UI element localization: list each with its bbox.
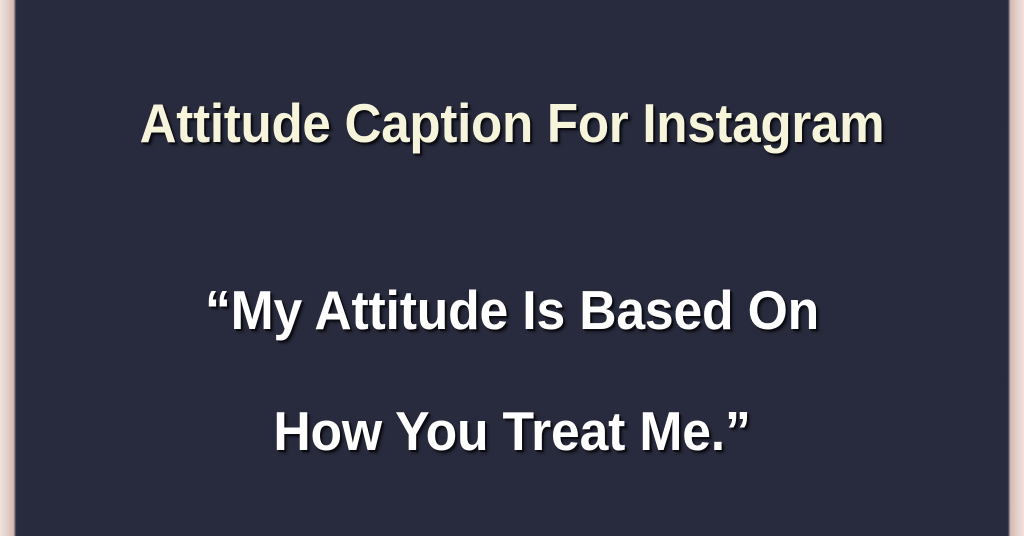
quote-line-2: How You Treat Me.” <box>31 404 994 459</box>
quote-line-1: “My Attitude Is Based On <box>31 283 994 338</box>
quote-graphic-canvas: Attitude Caption For Instagram “My Attit… <box>0 0 1024 536</box>
content-area: Attitude Caption For Instagram “My Attit… <box>0 0 1024 536</box>
page-title: Attitude Caption For Instagram <box>36 96 988 151</box>
quote-block: “My Attitude Is Based On How You Treat M… <box>0 283 1024 459</box>
